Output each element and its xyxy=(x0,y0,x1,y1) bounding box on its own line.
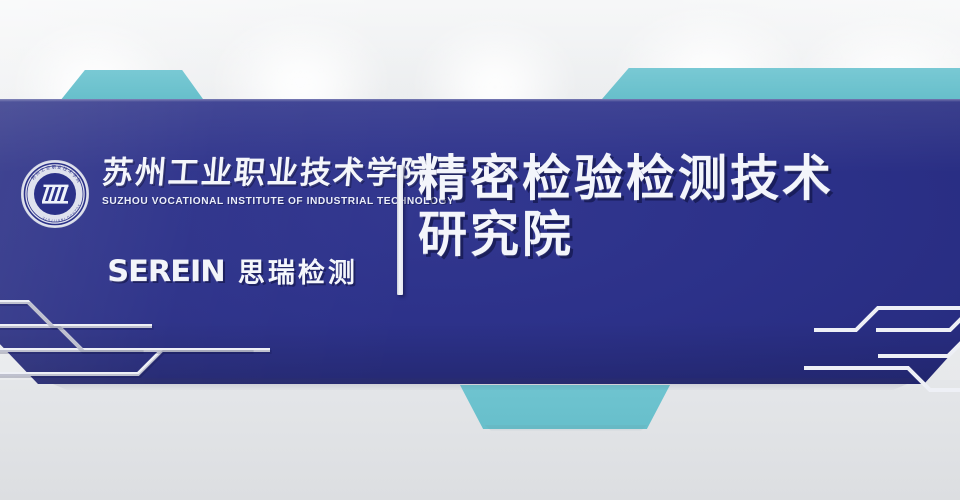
vertical-divider xyxy=(397,165,403,295)
partner-wordmark-cn: 思瑞检测 xyxy=(238,251,358,290)
partner-lockup: SEREIN 思瑞检测 xyxy=(110,251,358,290)
page-title-line-1: 精密检验检测技术 xyxy=(418,150,834,207)
page-title: 精密检验检测技术 研究院 xyxy=(418,151,958,263)
page-title-line-2: 研究院 xyxy=(418,207,958,263)
university-seal: 苏州工业职业技术学院 SUZHOU INSTITUTE xyxy=(18,157,92,231)
university-seal-icon: 苏州工业职业技术学院 SUZHOU INSTITUTE xyxy=(18,157,92,231)
signage-scene: 苏州工业职业技术学院 SUZHOU INSTITUTE xyxy=(0,0,960,500)
institution-lockup: 苏州工业职业技术学院 SUZHOU INSTITUTE xyxy=(18,155,454,231)
panel-content: 苏州工业职业技术学院 SUZHOU INSTITUTE xyxy=(0,99,960,384)
teal-accent-bottom xyxy=(460,385,670,429)
partner-wordmark-latin: SEREIN xyxy=(107,254,225,288)
teal-accent-bottom-shadow xyxy=(462,425,670,431)
